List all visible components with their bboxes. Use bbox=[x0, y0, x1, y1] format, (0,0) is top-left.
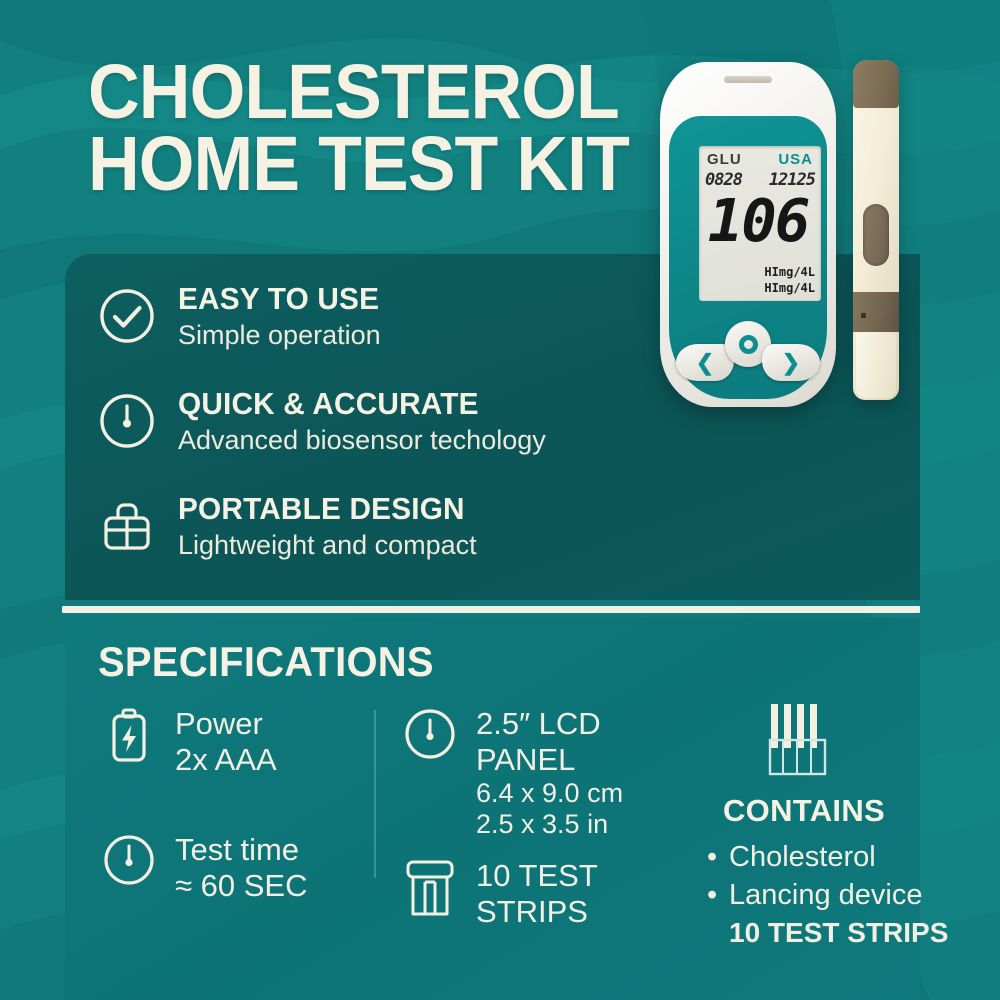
list-item: •Lancing device bbox=[703, 876, 948, 914]
lcd-region-label: USA bbox=[778, 151, 813, 168]
power-ring-icon bbox=[739, 335, 758, 354]
contains-item-label: Cholesterol bbox=[729, 841, 876, 873]
gauge-icon bbox=[404, 706, 462, 762]
infographic-canvas: CHOLESTEROL HOME TEST KIT EASY TO USE Si… bbox=[0, 0, 1000, 1000]
spec-lcd-panel: 2.5″ LCD PANEL 6.4 x 9.0 cm 2.5 x 3.5 in bbox=[404, 706, 623, 841]
spec-line: Test time bbox=[175, 832, 307, 868]
contains-list: •Cholesterol •Lancing device 10 TEST STR… bbox=[703, 838, 948, 951]
lancet-release-button[interactable] bbox=[861, 313, 866, 318]
chevron-right-icon: ❯ bbox=[782, 350, 800, 376]
briefcase-icon bbox=[98, 493, 160, 555]
lcd-unit-line-2: HImg/4L bbox=[764, 281, 815, 297]
spec-test-time: Test time ≈ 60 SEC bbox=[103, 832, 307, 904]
lancet-depth-band bbox=[853, 292, 899, 332]
lancing-pen bbox=[853, 60, 899, 400]
spec-line: 2.5″ LCD bbox=[476, 706, 623, 742]
spec-test-strips: 10 TEST STRIPS bbox=[404, 858, 598, 930]
feature-subtext: Simple operation bbox=[178, 319, 388, 353]
gauge-icon bbox=[103, 832, 161, 888]
feature-subtext: Advanced biosensor techology bbox=[178, 424, 546, 458]
spec-line: 6.4 x 9.0 cm bbox=[476, 778, 623, 809]
test-strips-icon bbox=[763, 700, 835, 780]
spec-line: Power bbox=[175, 706, 277, 742]
battery-bolt-icon bbox=[103, 706, 161, 766]
spec-line: 2x AAA bbox=[175, 742, 277, 778]
contains-item-label: Lancing device bbox=[729, 879, 922, 911]
bullet: • bbox=[707, 876, 717, 914]
bullet: • bbox=[707, 838, 717, 876]
spec-line: 10 TEST bbox=[476, 858, 598, 894]
lancet-cap bbox=[853, 60, 899, 108]
check-circle-icon bbox=[98, 283, 160, 345]
spec-line: ≈ 60 SEC bbox=[175, 868, 307, 904]
lcd-screen: GLU USA 0828 12125 106 HImg/4L HImg/4L bbox=[699, 146, 821, 301]
feature-heading: EASY TO USE bbox=[178, 283, 379, 314]
spec-power: Power 2x AAA bbox=[103, 706, 277, 778]
spec-line: PANEL bbox=[476, 742, 623, 778]
lancet-tip bbox=[856, 332, 896, 398]
title-line-2: HOME TEST KIT bbox=[88, 129, 646, 201]
contains-footer: 10 TEST STRIPS bbox=[703, 915, 948, 952]
meter-right-button[interactable]: ❯ bbox=[762, 344, 820, 381]
contains-heading: CONTAINS bbox=[723, 793, 885, 829]
feature-heading: PORTABLE DESIGN bbox=[178, 493, 465, 524]
specifications-heading: SPECIFICATIONS bbox=[98, 638, 434, 686]
test-strip-slot bbox=[724, 76, 772, 83]
glucose-meter: GLU USA 0828 12125 106 HImg/4L HImg/4L ❮ bbox=[660, 62, 836, 407]
page-title: CHOLESTEROL HOME TEST KIT bbox=[88, 57, 646, 200]
section-divider bbox=[62, 606, 920, 613]
feature-subtext: Lightweight and compact bbox=[178, 529, 477, 563]
lcd-unit-line-1: HImg/4L bbox=[764, 265, 815, 281]
feature-portable-design: PORTABLE DESIGN Lightweight and compact bbox=[98, 493, 477, 563]
gauge-icon bbox=[98, 388, 160, 450]
lcd-reading: 106 bbox=[699, 191, 817, 250]
spec-line: STRIPS bbox=[476, 894, 598, 930]
lancet-grip bbox=[863, 204, 889, 266]
feature-quick-accurate: QUICK & ACCURATE Advanced biosensor tech… bbox=[98, 388, 546, 458]
meter-faceplate: GLU USA 0828 12125 106 HImg/4L HImg/4L ❮ bbox=[669, 116, 827, 399]
chevron-left-icon: ❮ bbox=[696, 350, 714, 376]
lcd-mode-label: GLU bbox=[707, 151, 742, 168]
feature-heading: QUICK & ACCURATE bbox=[178, 388, 531, 419]
spec-column-divider bbox=[374, 710, 376, 878]
vial-icon bbox=[404, 858, 462, 920]
list-item: •Cholesterol bbox=[703, 838, 948, 876]
spec-line: 2.5 x 3.5 in bbox=[476, 809, 623, 840]
feature-easy-to-use: EASY TO USE Simple operation bbox=[98, 283, 388, 353]
